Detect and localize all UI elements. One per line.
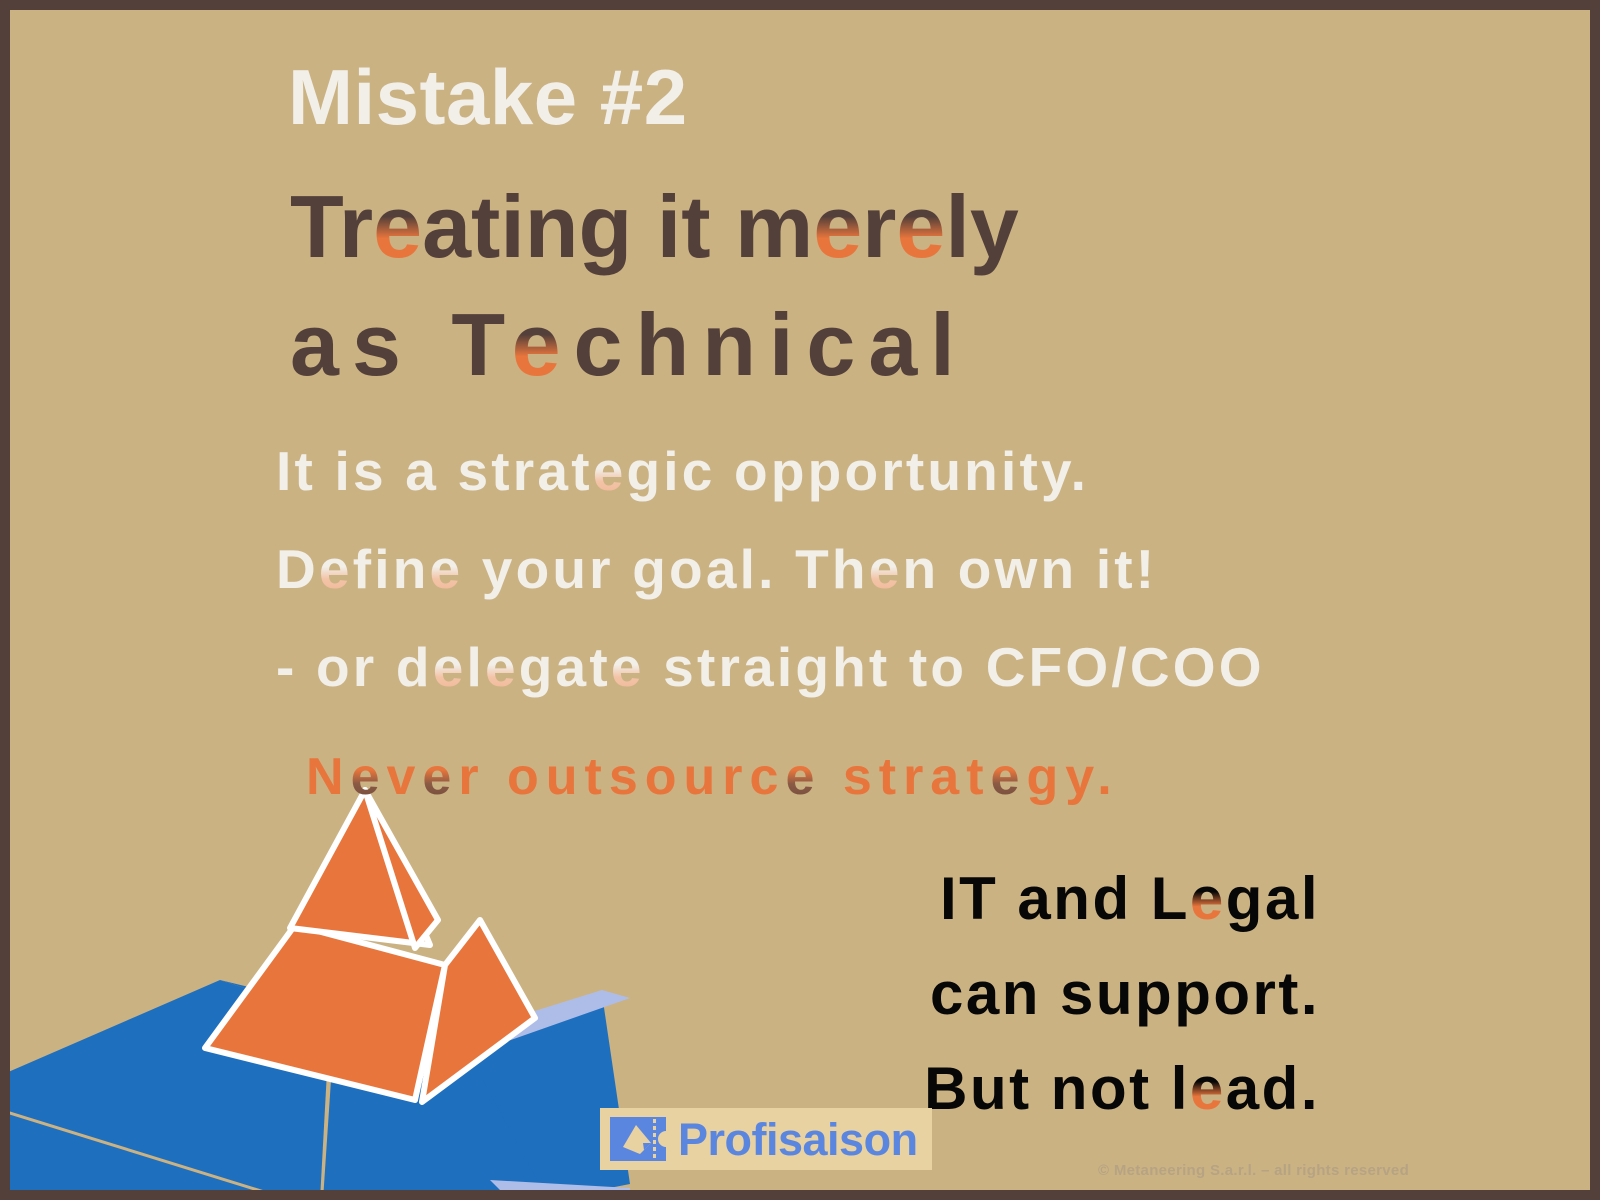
accent-letter-e: e <box>430 538 464 600</box>
accent-letter-e: e <box>351 748 387 806</box>
support-note-text: But not l <box>924 1055 1190 1122</box>
support-note-text: IT and L <box>940 865 1190 932</box>
accent-letter-e: e <box>373 177 422 276</box>
pyramid-apex-left-face <box>290 790 430 945</box>
slide-support-note: IT and Legal can support. But not lead. <box>924 852 1320 1136</box>
headline-line-2: as Technical <box>290 300 1019 390</box>
slide-kicker: Mistake #2 <box>288 58 688 136</box>
accent-letter-e: e <box>485 636 519 698</box>
headline-text: r <box>862 177 896 276</box>
body-line-2: Define your goal. Then own it! <box>276 521 1265 619</box>
logo-badge[interactable]: Profisaison <box>600 1108 932 1170</box>
accent-letter-e: e <box>611 636 645 698</box>
support-note-line-3: But not lead. <box>924 1042 1320 1137</box>
support-note-line-1: IT and Legal <box>924 852 1320 947</box>
tagline-text: strat <box>821 748 990 806</box>
pyramid-base-seam <box>0 1110 290 1200</box>
pyramid-base-right-face <box>323 1020 550 1200</box>
body-text: - or d <box>276 636 433 698</box>
pyramid-illustration <box>0 780 630 1200</box>
pyramid-base-highlight <box>458 990 630 1048</box>
accent-letter-e: e <box>991 748 1027 806</box>
headline-text: ating it m <box>422 177 813 276</box>
tagline-text: N <box>306 748 351 806</box>
tagline-text: v <box>386 748 422 806</box>
accent-letter-e: e <box>896 177 945 276</box>
accent-letter-e: e <box>1190 1055 1226 1122</box>
tagline-text: gy. <box>1026 748 1118 806</box>
pyramid-mid-left-face <box>205 925 445 1100</box>
slide-headline: Treating it merely as Technical <box>290 182 1019 390</box>
tagline-text: r outsourc <box>458 748 785 806</box>
support-note-text: ad. <box>1226 1055 1320 1122</box>
accent-letter-e: e <box>1190 865 1226 932</box>
headline-text: Tr <box>290 177 373 276</box>
headline-text: ly <box>945 177 1018 276</box>
accent-letter-e: e <box>512 295 574 394</box>
accent-letter-e: e <box>593 440 627 502</box>
headline-text: as T <box>290 295 512 394</box>
pyramid-base-left-top <box>220 980 460 1038</box>
accent-letter-e: e <box>813 177 862 276</box>
slide-body-copy: It is a strategic opportunity. Define yo… <box>276 423 1265 717</box>
pyramid-base-left-face <box>0 980 330 1200</box>
headline-line-1: Treating it merely <box>290 182 1019 272</box>
slide-tagline: Never outsource strategy. <box>306 747 1119 807</box>
accent-letter-e: e <box>869 538 903 600</box>
accent-letter-e: e <box>422 748 458 806</box>
accent-letter-e: e <box>433 636 467 698</box>
body-text: gat <box>519 636 611 698</box>
body-text: straight to CFO/COO <box>645 636 1265 698</box>
body-line-1: It is a strategic opportunity. <box>276 423 1265 521</box>
headline-text: chnical <box>574 295 968 394</box>
support-note-line-2: can support. <box>924 947 1320 1042</box>
body-text: l <box>466 636 484 698</box>
accent-letter-e: e <box>319 538 353 600</box>
pyramid-mid-right-face <box>422 920 535 1102</box>
copyright-notice: © Metaneering S.a.r.l. – all rights rese… <box>1098 1162 1409 1179</box>
body-text: It is a strat <box>276 440 593 502</box>
body-text: fin <box>353 538 430 600</box>
body-line-3: - or delegate straight to CFO/COO <box>276 619 1265 717</box>
body-text: D <box>276 538 319 600</box>
pyramid-apex-right-face <box>365 790 438 948</box>
support-note-text: gal <box>1226 865 1320 932</box>
slide-canvas: Mistake #2 Treating it merely as Technic… <box>0 0 1600 1200</box>
body-text: your goal. Th <box>463 538 868 600</box>
body-text: n own it! <box>902 538 1157 600</box>
logo-wordmark: Profisaison <box>678 1117 918 1162</box>
accent-letter-e: e <box>785 748 821 806</box>
body-text: gic opportunity. <box>627 440 1090 502</box>
pyramid-base-highlight-lower <box>490 1180 630 1200</box>
ticket-icon <box>610 1117 666 1161</box>
